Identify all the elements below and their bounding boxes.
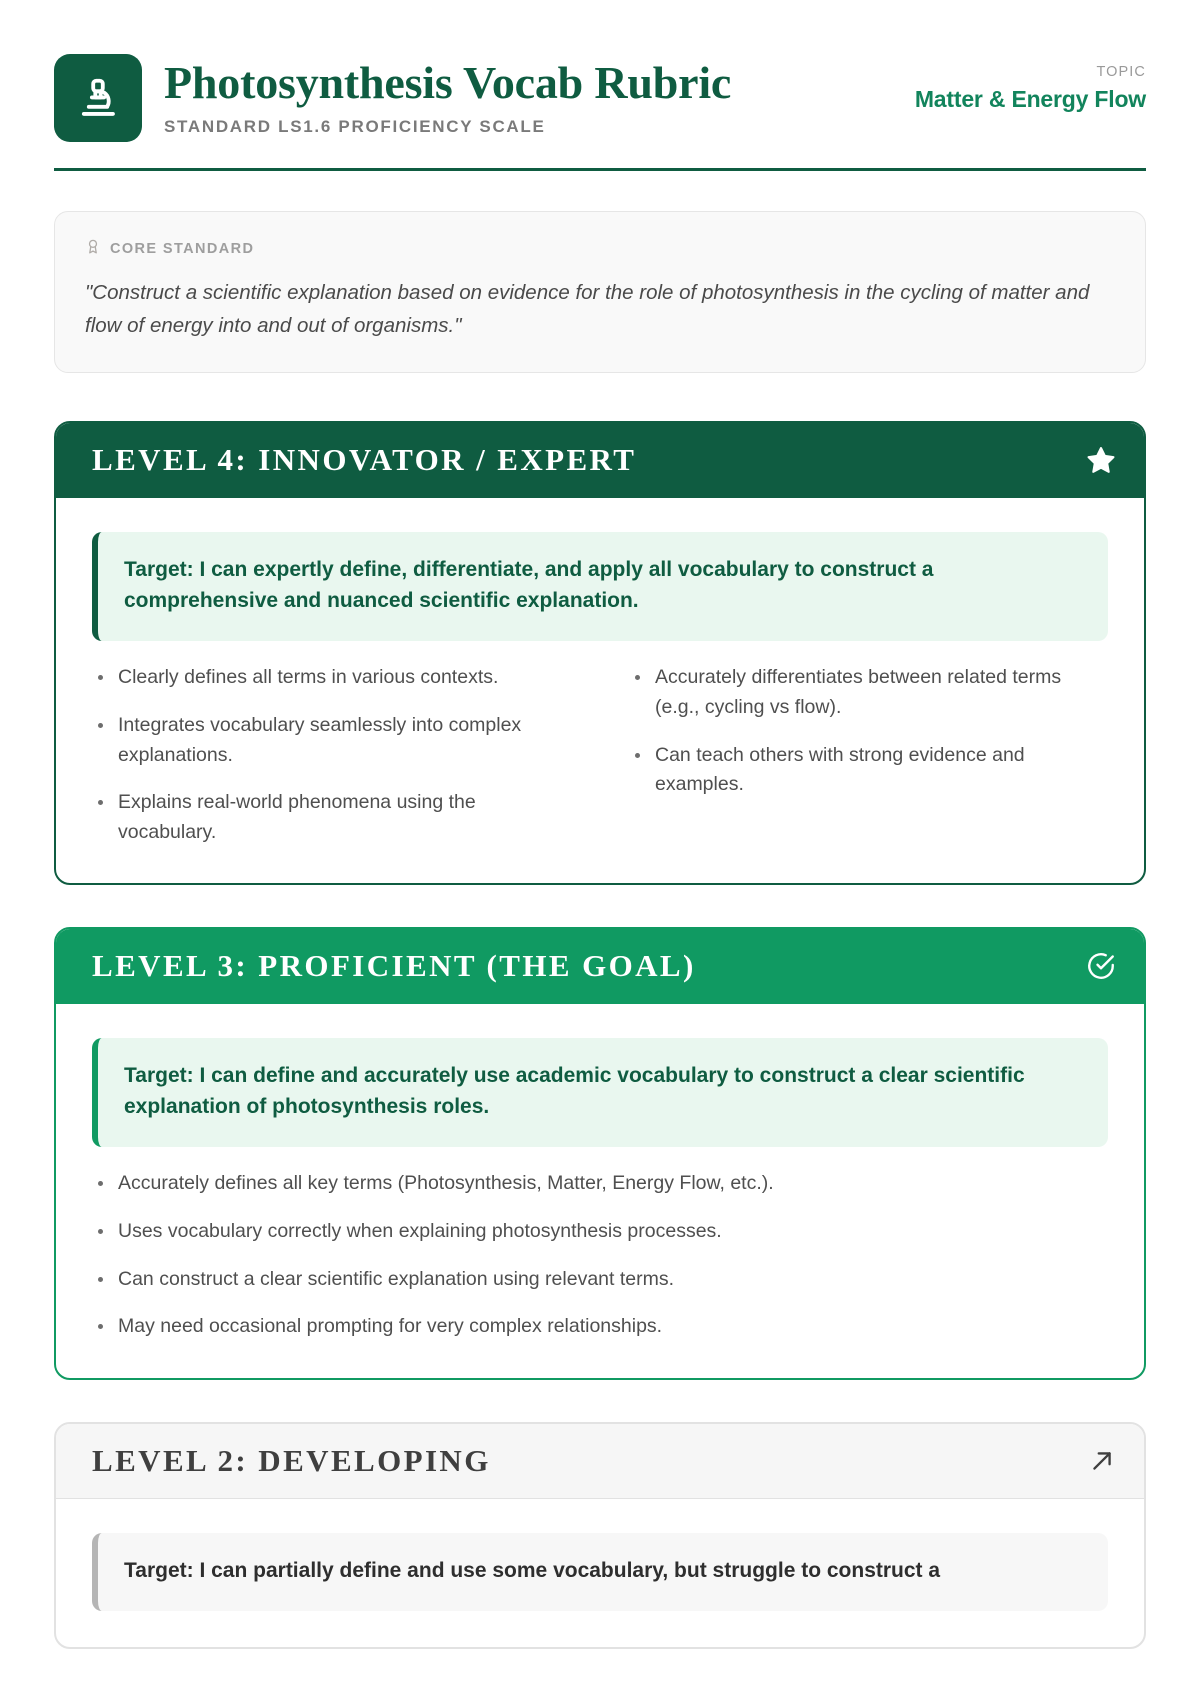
arrow-up-right-icon: [1088, 1447, 1116, 1475]
level-card-2-target-text: Target: I can partially define and use s…: [124, 1555, 1082, 1587]
page-subtitle: STANDARD LS1.6 PROFICIENCY SCALE: [164, 117, 731, 137]
core-standard-text: "Construct a scientific explanation base…: [85, 276, 1115, 342]
level-card-4-criteria: Clearly defines all terms in various con…: [92, 663, 1108, 847]
level-card-2-header[interactable]: LEVEL 2: DEVELOPING: [56, 1424, 1144, 1499]
page-header: Photosynthesis Vocab Rubric STANDARD LS1…: [54, 52, 1146, 171]
level-card-4-header[interactable]: LEVEL 4: INNOVATOR / EXPERT: [56, 423, 1144, 497]
list-item: May need occasional prompting for very c…: [92, 1312, 1108, 1342]
level-card-2-target: Target: I can partially define and use s…: [92, 1533, 1108, 1611]
level-card-4-target: Target: I can expertly define, different…: [92, 532, 1108, 642]
level-card-2-title: LEVEL 2: DEVELOPING: [92, 1444, 491, 1478]
header-left: Photosynthesis Vocab Rubric STANDARD LS1…: [54, 52, 731, 142]
list-item: Can construct a clear scientific explana…: [92, 1265, 1108, 1295]
list-item: Uses vocabulary correctly when explainin…: [92, 1217, 1108, 1247]
core-standard-panel: CORE STANDARD "Construct a scientific ex…: [54, 211, 1146, 373]
page-title: Photosynthesis Vocab Rubric: [164, 58, 731, 108]
list-item: Integrates vocabulary seamlessly into co…: [92, 711, 571, 770]
core-standard-header: CORE STANDARD: [85, 238, 1115, 260]
list-item: Accurately defines all key terms (Photos…: [92, 1169, 1108, 1199]
level-card-4-title: LEVEL 4: INNOVATOR / EXPERT: [92, 443, 636, 477]
level-card-3-title: LEVEL 3: PROFICIENT (THE GOAL): [92, 949, 696, 983]
topic-block: TOPIC Matter & Energy Flow: [915, 52, 1146, 113]
list-item: Accurately differentiates between relate…: [629, 663, 1108, 722]
level-card-3-header[interactable]: LEVEL 3: PROFICIENT (THE GOAL): [56, 929, 1144, 1003]
list-item: Explains real-world phenomena using the …: [92, 788, 571, 847]
level-card-3-target-text: Target: I can define and accurately use …: [124, 1060, 1082, 1124]
title-block: Photosynthesis Vocab Rubric STANDARD LS1…: [164, 52, 731, 137]
topic-label: TOPIC: [915, 64, 1146, 80]
check-circle-icon: [1086, 951, 1116, 981]
level-card-3[interactable]: LEVEL 3: PROFICIENT (THE GOAL) Target: I…: [54, 927, 1146, 1379]
level-card-3-body: Target: I can define and accurately use …: [56, 1004, 1144, 1378]
core-standard-label: CORE STANDARD: [110, 241, 254, 257]
level-card-4-target-text: Target: I can expertly define, different…: [124, 554, 1082, 618]
list-item: Can teach others with strong evidence an…: [629, 741, 1108, 800]
level-card-2[interactable]: LEVEL 2: DEVELOPING Target: I can partia…: [54, 1422, 1146, 1649]
level-card-4-body: Target: I can expertly define, different…: [56, 498, 1144, 884]
award-ribbon-icon: [85, 238, 101, 260]
level-card-2-body: Target: I can partially define and use s…: [56, 1499, 1144, 1647]
list-item: Clearly defines all terms in various con…: [92, 663, 571, 693]
rubric-page: Photosynthesis Vocab Rubric STANDARD LS1…: [0, 0, 1200, 1649]
level-list: LEVEL 4: INNOVATOR / EXPERT Target: I ca…: [54, 421, 1146, 1648]
topic-value: Matter & Energy Flow: [915, 86, 1146, 113]
level-card-3-criteria: Accurately defines all key terms (Photos…: [92, 1169, 1108, 1342]
level-card-4[interactable]: LEVEL 4: INNOVATOR / EXPERT Target: I ca…: [54, 421, 1146, 885]
star-icon: [1086, 445, 1116, 475]
level-card-3-target: Target: I can define and accurately use …: [92, 1038, 1108, 1148]
microscope-icon: [54, 54, 142, 142]
